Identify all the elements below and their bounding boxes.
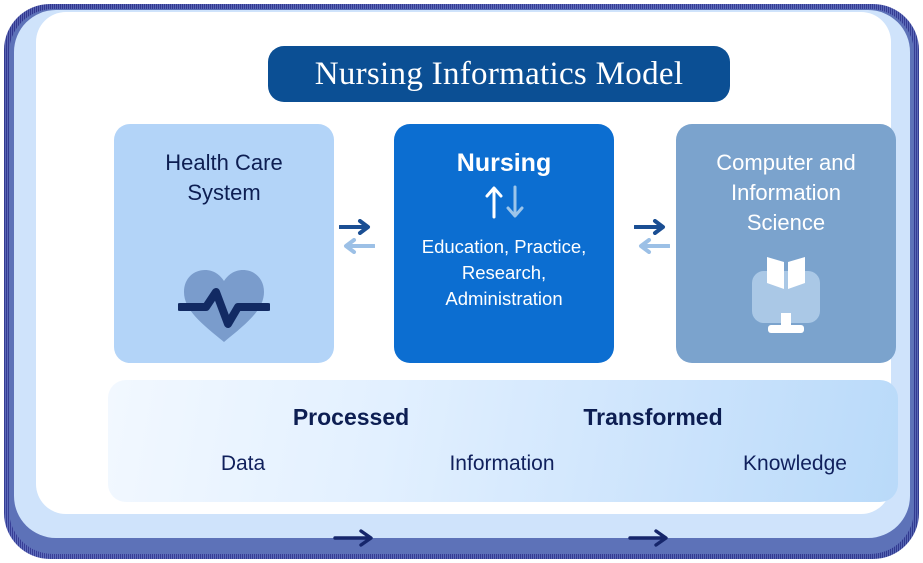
flow-stage-labels: Processed Transformed xyxy=(108,404,898,436)
concept-box-health-care-system[interactable]: Health Care System xyxy=(114,124,334,363)
flow-step-information: Information xyxy=(449,452,554,476)
diagram-title-pill: Nursing Informatics Model xyxy=(268,46,730,102)
flow-label-transformed: Transformed xyxy=(583,404,722,431)
nursing-label: Nursing xyxy=(409,148,599,178)
computer-information-science-label: Computer and Information Science xyxy=(691,148,881,238)
flow-step-data: Data xyxy=(221,452,265,476)
page-title: Nursing Informatics Model xyxy=(315,56,684,93)
nursing-subtitle-line3: Administration xyxy=(404,286,604,312)
heart-pulse-icon xyxy=(178,266,270,351)
nursing-subtitle-line2: Research, xyxy=(404,260,604,286)
arrow-up-icon xyxy=(484,185,504,219)
arrow-right-icon xyxy=(339,219,375,235)
data-information-knowledge-flow-bar: Processed Transformed Data Information K… xyxy=(108,380,898,502)
arrow-right-icon xyxy=(634,219,670,235)
arrow-right-icon xyxy=(628,528,674,553)
diagram-card: Nursing Informatics Model Health Care Sy… xyxy=(36,12,891,514)
arrow-left-icon xyxy=(634,238,670,254)
concept-box-computer-information-science[interactable]: Computer and Information Science xyxy=(676,124,896,363)
cis-label-line1: Computer and xyxy=(691,148,881,178)
flow-step-knowledge: Knowledge xyxy=(743,452,847,476)
nursing-subtitle: Education, Practice, Research, Administr… xyxy=(404,234,604,312)
arrow-right-icon xyxy=(333,528,379,553)
health-care-system-label: Health Care System xyxy=(129,148,319,208)
arrow-left-icon xyxy=(339,238,375,254)
connector-arrows-right xyxy=(630,210,674,262)
cis-label-line3: Science xyxy=(691,208,881,238)
concept-box-nursing[interactable]: Nursing Education, Practice, Research, A… xyxy=(394,124,614,363)
connector-arrows-left xyxy=(335,210,379,262)
monitor-book-icon xyxy=(746,255,826,342)
arrow-down-icon xyxy=(505,185,525,219)
flow-steps: Data Information Knowledge xyxy=(108,452,898,484)
health-care-system-label-line2: System xyxy=(129,178,319,208)
flow-label-processed: Processed xyxy=(293,404,409,431)
up-down-arrows-icon xyxy=(484,184,525,220)
cis-label-line2: Information xyxy=(691,178,881,208)
nursing-subtitle-line1: Education, Practice, xyxy=(404,234,604,260)
health-care-system-label-line1: Health Care xyxy=(129,148,319,178)
